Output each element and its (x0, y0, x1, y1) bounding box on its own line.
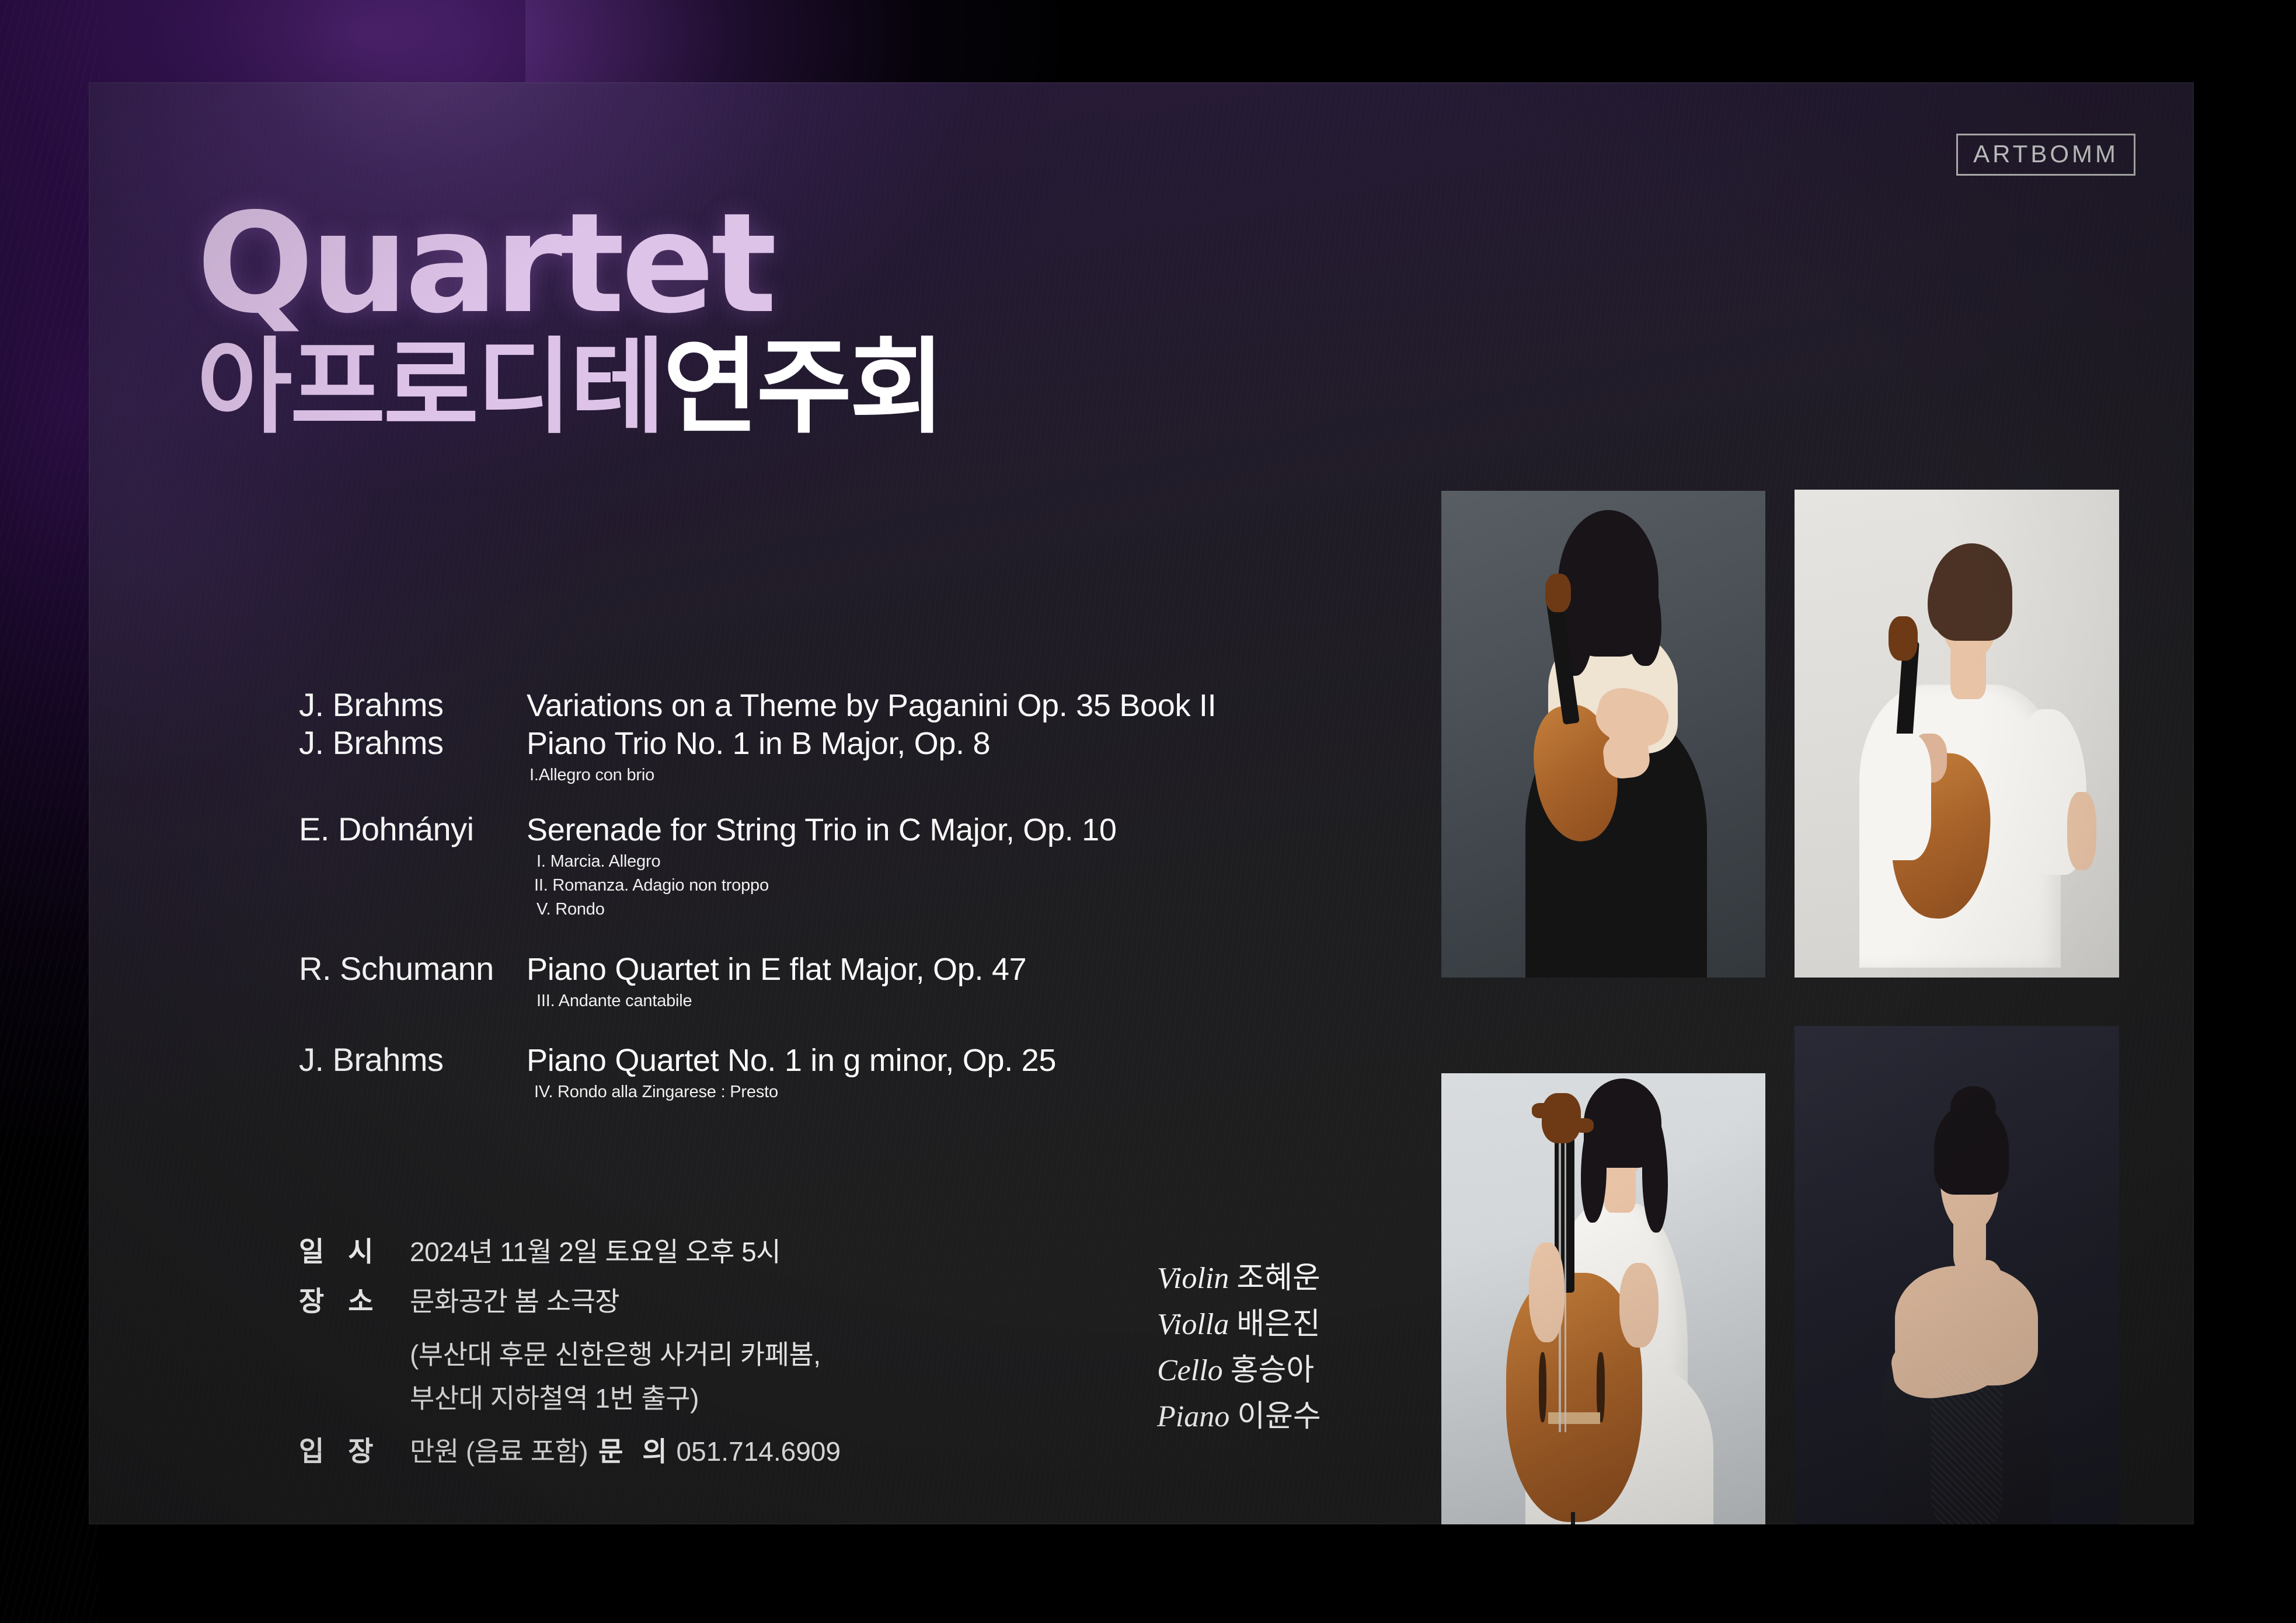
program-row: E. Dohnányi Serenade for String Trio in … (299, 811, 1291, 849)
headline-event-word: 연주회 (663, 327, 943, 448)
movement-list: III. Andante cantabile (529, 989, 1291, 1013)
venue-label: 장 소 (299, 1285, 410, 1319)
program-row: J. Brahms Variations on a Theme by Pagan… (299, 686, 1291, 724)
violist-photo (1795, 490, 2119, 978)
date-label: 일 시 (299, 1235, 410, 1269)
performer-name: 배은진 (1236, 1307, 1321, 1342)
headline-korean: 아프로디테연주회 (197, 334, 943, 441)
performer-row: Piano 이윤수 (1157, 1394, 1321, 1440)
pianist-photo (1795, 1026, 2119, 1524)
performer-row: Violla 배은진 (1157, 1301, 1321, 1348)
venue-detail-line-2: 부산대 지하철역 1번 출구) (410, 1378, 1029, 1419)
contact-phone: 051.714.6909 (677, 1436, 841, 1467)
violist-figure (1795, 490, 2119, 978)
performer-row: Violin 조혜운 (1157, 1255, 1321, 1301)
movement-item: V. Rondo (529, 898, 1291, 922)
instrument-label: Piano (1157, 1400, 1229, 1433)
performer-name: 이윤수 (1237, 1399, 1321, 1434)
movement-list: IV. Rondo alla Zingarese : Presto (529, 1080, 1291, 1104)
cellist-photo (1441, 1073, 1765, 1524)
work-title: Piano Trio No. 1 in B Major, Op. 8 (527, 725, 990, 762)
violinist-figure (1441, 491, 1765, 978)
concert-poster: ARTBOMM Quartet 아프로디테연주회 J. Brahms Varia… (0, 0, 2296, 1623)
movement-item: I.Allegro con brio (529, 763, 1291, 787)
cellist-figure (1441, 1073, 1765, 1524)
performer-row: Cello 홍승아 (1157, 1348, 1321, 1394)
scanline-texture (0, 0, 99, 1623)
admission-value-group: 만원 (음료 포함)문 의051.714.6909 (410, 1435, 841, 1469)
contact-label: 문 의 (598, 1436, 673, 1467)
venue-detail-line-1: (부산대 후문 신한은행 사거리 카페봄, (410, 1334, 1029, 1376)
movement-list: I.Allegro con brio (529, 763, 1291, 787)
admission-price: 만원 (음료 포함) (410, 1436, 588, 1467)
info-row-venue: 장 소 문화공간 봄 소극장 (299, 1285, 1029, 1319)
program-row: R. Schumann Piano Quartet in E flat Majo… (299, 950, 1291, 988)
performer-credits: Violin 조혜운 Violla 배은진 Cello 홍승아 Piano 이윤… (1157, 1255, 1321, 1440)
composer-name: J. Brahms (299, 686, 527, 724)
composer-name: E. Dohnányi (299, 811, 527, 849)
program-list: J. Brahms Variations on a Theme by Pagan… (299, 686, 1291, 1104)
composer-name: J. Brahms (299, 1041, 527, 1079)
date-value: 2024년 11월 2일 토요일 오후 5시 (410, 1235, 781, 1269)
pianist-figure (1795, 1026, 2119, 1524)
program-row: J. Brahms Piano Trio No. 1 in B Major, O… (299, 724, 1291, 762)
work-title: Piano Quartet in E flat Major, Op. 47 (527, 951, 1026, 988)
performer-name: 조혜운 (1236, 1261, 1321, 1296)
instrument-label: Cello (1157, 1354, 1223, 1387)
instrument-label: Violin (1157, 1262, 1229, 1295)
movement-item: III. Andante cantabile (529, 989, 1291, 1013)
headline-group-name: 아프로디테 (197, 327, 663, 448)
performer-name: 홍승아 (1231, 1353, 1315, 1388)
movement-item: II. Romanza. Adagio non troppo (529, 874, 1291, 898)
movement-item: IV. Rondo alla Zingarese : Presto (529, 1080, 1291, 1104)
composer-name: J. Brahms (299, 724, 527, 762)
work-title: Piano Quartet No. 1 in g minor, Op. 25 (527, 1042, 1056, 1079)
venue-value: 문화공간 봄 소극장 (410, 1285, 619, 1319)
artbomm-logo: ARTBOMM (1956, 134, 2135, 176)
admission-label: 입 장 (299, 1434, 410, 1469)
instrument-label: Violla (1157, 1308, 1229, 1341)
info-row-admission: 입 장 만원 (음료 포함)문 의051.714.6909 (299, 1434, 1029, 1469)
headline-english: Quartet (197, 199, 943, 329)
movement-list: I. Marcia. Allegro II. Romanza. Adagio n… (529, 850, 1291, 922)
program-row: J. Brahms Piano Quartet No. 1 in g minor… (299, 1041, 1291, 1079)
event-info-block: 일 시 2024년 11월 2일 토요일 오후 5시 장 소 문화공간 봄 소극… (299, 1235, 1029, 1484)
poster-panel: ARTBOMM Quartet 아프로디테연주회 J. Brahms Varia… (89, 82, 2194, 1524)
movement-item: I. Marcia. Allegro (529, 850, 1291, 874)
composer-name: R. Schumann (299, 950, 527, 988)
work-title: Serenade for String Trio in C Major, Op.… (527, 812, 1117, 849)
violinist-photo (1441, 491, 1765, 978)
headline-block: Quartet 아프로디테연주회 (197, 199, 943, 440)
info-row-date: 일 시 2024년 11월 2일 토요일 오후 5시 (299, 1235, 1029, 1269)
work-title: Variations on a Theme by Paganini Op. 35… (527, 687, 1216, 724)
